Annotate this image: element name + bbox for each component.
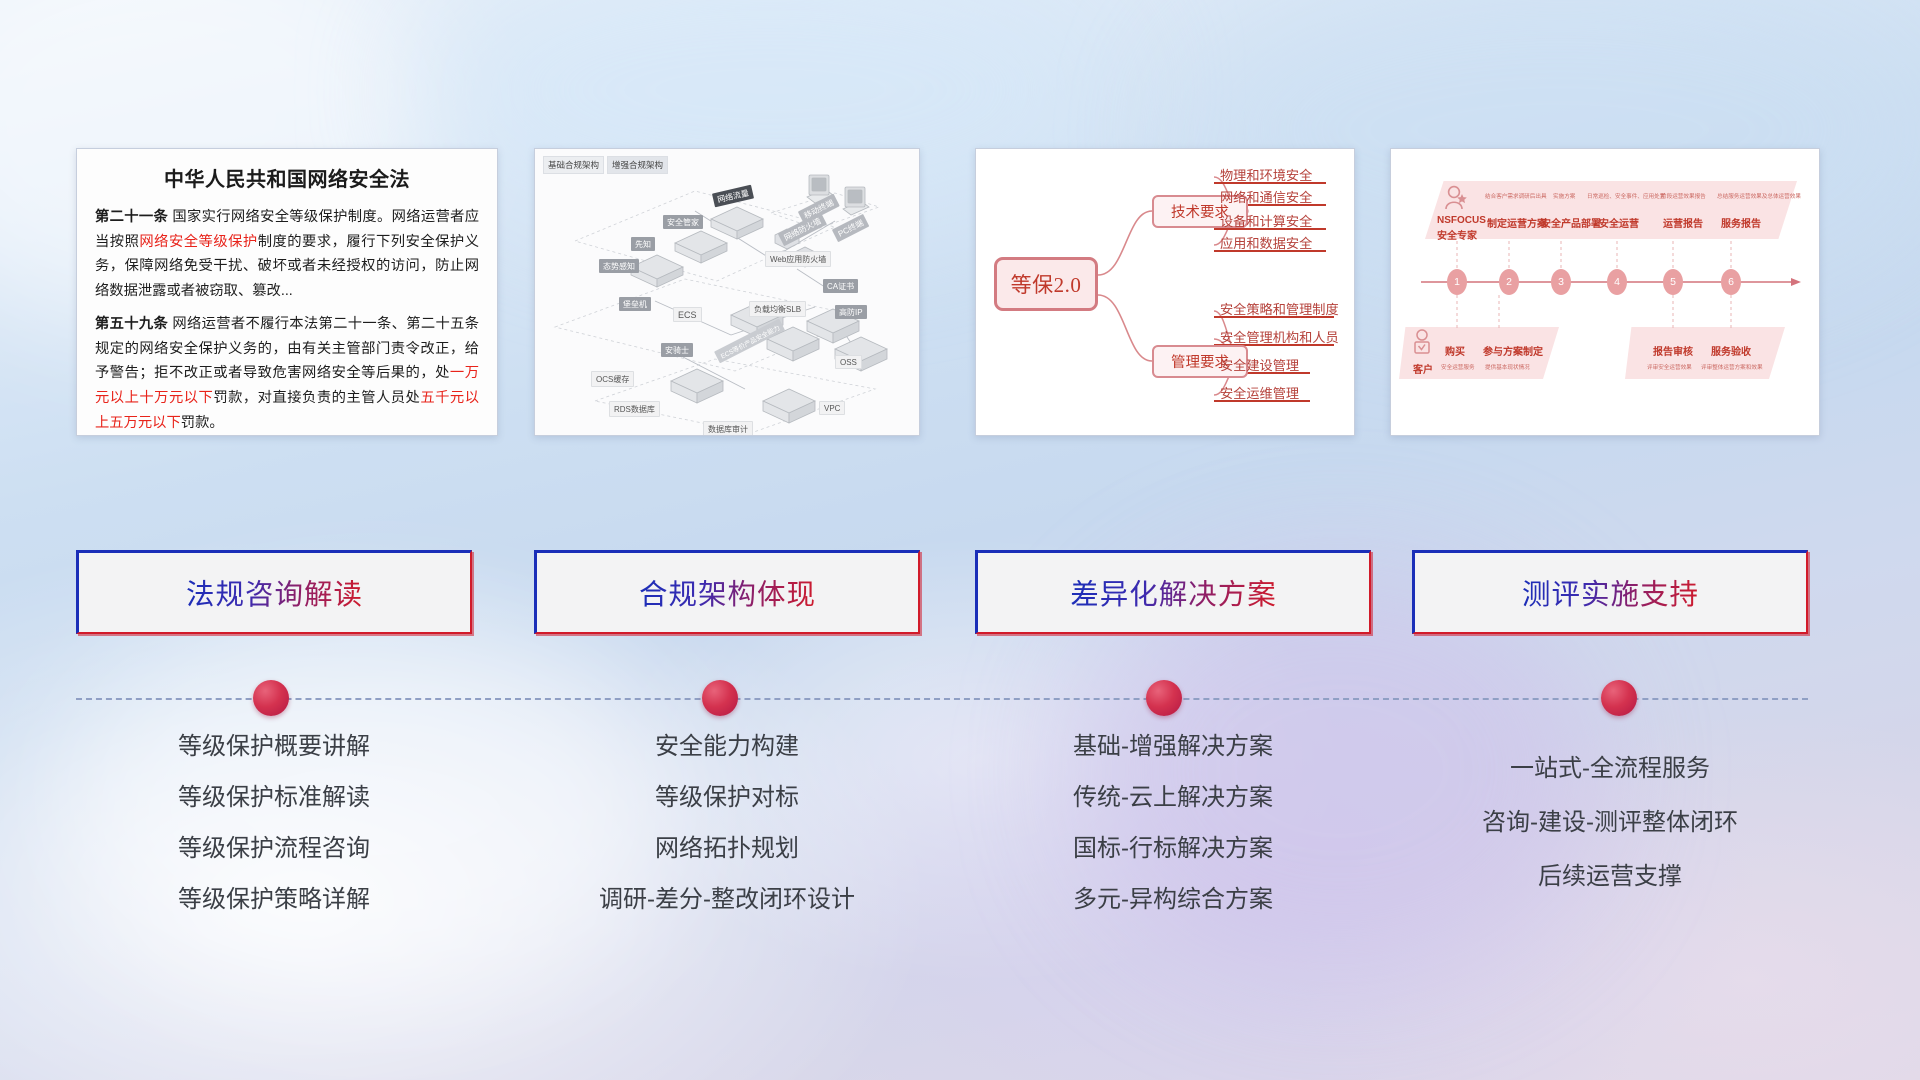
- card-law-document[interactable]: 中华人民共和国网络安全法 第二十一条 国家实行网络安全等级保护制度。网络运营者应…: [76, 148, 498, 436]
- detail-list-regulation-consulting: 等级保护概要讲解 等级保护标准解读 等级保护流程咨询 等级保护策略详解: [76, 735, 472, 939]
- list-item: 传统-云上解决方案: [975, 786, 1371, 810]
- top-step-sub: 结合客户需求调研后出具: [1485, 192, 1547, 200]
- top-step-sub: 总结服务运营效果及总体运营效果: [1717, 192, 1801, 200]
- article-21-label: 第二十一条: [95, 209, 168, 225]
- customer-role: 客户: [1413, 361, 1433, 376]
- arch-node-label: 数据库审计: [703, 421, 753, 436]
- timeline-node[interactable]: [1601, 680, 1637, 716]
- preview-cards-row: 中华人民共和国网络安全法 第二十一条 国家实行网络安全等级保护制度。网络运营者应…: [0, 148, 1920, 438]
- article-59-label: 第五十九条: [95, 316, 168, 332]
- top-step-title: 制定运营方案: [1487, 215, 1547, 230]
- provider-role: 安全专家: [1437, 227, 1477, 242]
- list-item: 等级保护策略详解: [76, 888, 472, 912]
- timeline-step-number: 6: [1721, 269, 1741, 295]
- mindmap-leaf: 安全策略和管理制度: [1220, 299, 1339, 320]
- bottom-step-sub: 安全运营服务: [1441, 363, 1475, 371]
- bottom-step-sub: 评审整体运营方案和效果: [1701, 363, 1763, 371]
- list-item: 等级保护对标: [534, 786, 920, 810]
- top-step-sub: 日常巡检、安全事件、应用处置: [1587, 192, 1665, 200]
- bottom-step-sub: 评审安全运营效果: [1647, 363, 1692, 371]
- category-button-label: 测评实施支持: [1522, 572, 1699, 613]
- card-mindmap-dengbao[interactable]: 等保2.0 技术要求 管理要求 物理和环境安全 网络和通信安全 设备和计算安全 …: [975, 148, 1355, 436]
- law-title: 中华人民共和国网络安全法: [95, 163, 479, 192]
- timeline-step-number: 2: [1499, 269, 1519, 295]
- provider-brand: NSFOCUS: [1437, 215, 1486, 226]
- category-button-label: 法规咨询解读: [186, 572, 363, 613]
- list-item: 基础-增强解决方案: [975, 735, 1371, 759]
- top-step-title: 运营报告: [1663, 215, 1703, 230]
- timeline-node[interactable]: [253, 680, 289, 716]
- bottom-step-title: 服务验收: [1711, 343, 1751, 358]
- article-21-highlight: 网络安全等级保护: [139, 234, 257, 250]
- mindmap-leaf: 设备和计算安全: [1220, 211, 1312, 232]
- bottom-step-sub: 提供基本现状情况: [1485, 363, 1530, 371]
- security-expert-icon: [1443, 185, 1469, 219]
- timeline-node[interactable]: [702, 680, 738, 716]
- category-button-label: 合规架构体现: [639, 572, 816, 613]
- list-item: 等级保护流程咨询: [76, 837, 472, 861]
- timeline-node[interactable]: [1146, 680, 1182, 716]
- arch-node-label: CA证书: [823, 279, 858, 293]
- mindmap-leaf: 安全建设管理: [1220, 355, 1299, 376]
- top-step-title: 安全运营: [1599, 215, 1639, 230]
- arch-node-label: Web应用防火墙: [765, 251, 831, 267]
- list-item: 等级保护标准解读: [76, 786, 472, 810]
- mindmap-root-node: 等保2.0: [994, 257, 1098, 311]
- top-step-title: 服务报告: [1721, 215, 1761, 230]
- mindmap-leaf: 安全运维管理: [1220, 383, 1299, 404]
- list-item: 网络拓扑规划: [534, 837, 920, 861]
- list-item: 一站式-全流程服务: [1412, 757, 1808, 781]
- timeline-step-number: 3: [1551, 269, 1571, 295]
- timeline-dashed-line: [76, 698, 1808, 700]
- architecture-diagram: 基础合规架构 增强合规架构: [535, 149, 919, 435]
- bottom-step-title: 参与方案制定: [1483, 343, 1543, 358]
- law-article-59: 第五十九条 网络运营者不履行本法第二十一条、第二十五条规定的网络安全保护义务的，…: [95, 312, 479, 435]
- mindmap-diagram: 等保2.0 技术要求 管理要求 物理和环境安全 网络和通信安全 设备和计算安全 …: [976, 149, 1354, 435]
- arch-node-label: VPC: [819, 401, 845, 415]
- category-button-assessment-support[interactable]: 测评实施支持: [1412, 550, 1808, 634]
- article-59-text-c: 罚款。: [181, 415, 224, 431]
- slide-canvas: 中华人民共和国网络安全法 第二十一条 国家实行网络安全等级保护制度。网络运营者应…: [0, 0, 1920, 1080]
- arch-node-label: 安全管家: [663, 215, 703, 229]
- article-59-text-b: 罚款，对直接负责的主管人员处: [213, 390, 420, 406]
- bottom-step-title: 购买: [1445, 343, 1465, 358]
- mindmap-leaf: 物理和环境安全: [1220, 165, 1312, 186]
- arch-node-label: 态势感知: [599, 259, 639, 273]
- card-cloud-architecture[interactable]: 基础合规架构 增强合规架构: [534, 148, 920, 436]
- arch-node-label: 堡垒机: [619, 297, 651, 311]
- top-step-title: 安全产品部署: [1541, 215, 1601, 230]
- arch-node-label: 负载均衡SLB: [749, 301, 806, 317]
- top-step-sub: 实施方案: [1553, 192, 1575, 200]
- category-button-label: 差异化解决方案: [1070, 572, 1277, 613]
- arch-node-label: OCS缓存: [591, 371, 634, 387]
- customer-icon: [1411, 329, 1433, 359]
- category-button-differentiated-solution[interactable]: 差异化解决方案: [975, 550, 1371, 634]
- mindmap-leaf: 应用和数据安全: [1220, 233, 1312, 254]
- arch-node-label: 先知: [631, 237, 655, 251]
- list-item: 多元-异构综合方案: [975, 888, 1371, 912]
- list-item: 后续运营支撑: [1412, 865, 1808, 889]
- mindmap-leaf: 安全管理机构和人员: [1220, 327, 1339, 348]
- detail-list-assessment-support: 一站式-全流程服务 咨询-建设-测评整体闭环 后续运营支撑: [1412, 757, 1808, 919]
- arch-node-label: RDS数据库: [609, 401, 660, 417]
- detail-list-compliance-architecture: 安全能力构建 等级保护对标 网络拓扑规划 调研-差分-整改闭环设计: [534, 735, 920, 939]
- timeline-step-number: 1: [1447, 269, 1467, 295]
- category-button-compliance-architecture[interactable]: 合规架构体现: [534, 550, 920, 634]
- list-item: 国标-行标解决方案: [975, 837, 1371, 861]
- detail-list-differentiated-solution: 基础-增强解决方案 传统-云上解决方案 国标-行标解决方案 多元-异构综合方案: [975, 735, 1371, 939]
- law-article-21: 第二十一条 国家实行网络安全等级保护制度。网络运营者应当按照网络安全等级保护制度…: [95, 205, 479, 303]
- list-item: 安全能力构建: [534, 735, 920, 759]
- list-item: 调研-差分-整改闭环设计: [534, 888, 920, 912]
- list-item: 咨询-建设-测评整体闭环: [1412, 811, 1808, 835]
- law-document-body: 中华人民共和国网络安全法 第二十一条 国家实行网络安全等级保护制度。网络运营者应…: [77, 149, 497, 436]
- detail-lists-row: 等级保护概要讲解 等级保护标准解读 等级保护流程咨询 等级保护策略详解 安全能力…: [0, 735, 1920, 975]
- timeline-step-number: 5: [1663, 269, 1683, 295]
- nsfocus-timeline-diagram: NSFOCUS 安全专家 结合客户需求调研后出具 制定运营方案 实施方案 安全产…: [1391, 149, 1819, 435]
- bottom-step-title: 报告审核: [1653, 343, 1693, 358]
- arch-node-label: 安骑士: [661, 343, 693, 357]
- top-step-sub: 阶段运营效果报告: [1661, 192, 1706, 200]
- timeline-step-number: 4: [1607, 269, 1627, 295]
- card-service-timeline[interactable]: NSFOCUS 安全专家 结合客户需求调研后出具 制定运营方案 实施方案 安全产…: [1390, 148, 1820, 436]
- category-buttons-row: 法规咨询解读 合规架构体现 差异化解决方案 测评实施支持: [0, 550, 1920, 636]
- category-button-regulation-consulting[interactable]: 法规咨询解读: [76, 550, 472, 634]
- mindmap-leaf: 网络和通信安全: [1220, 187, 1312, 208]
- arch-node-label: ECS: [673, 307, 702, 322]
- list-item: 等级保护概要讲解: [76, 735, 472, 759]
- arch-node-label: 高防IP: [835, 305, 867, 319]
- arch-node-label: OSS: [835, 355, 862, 369]
